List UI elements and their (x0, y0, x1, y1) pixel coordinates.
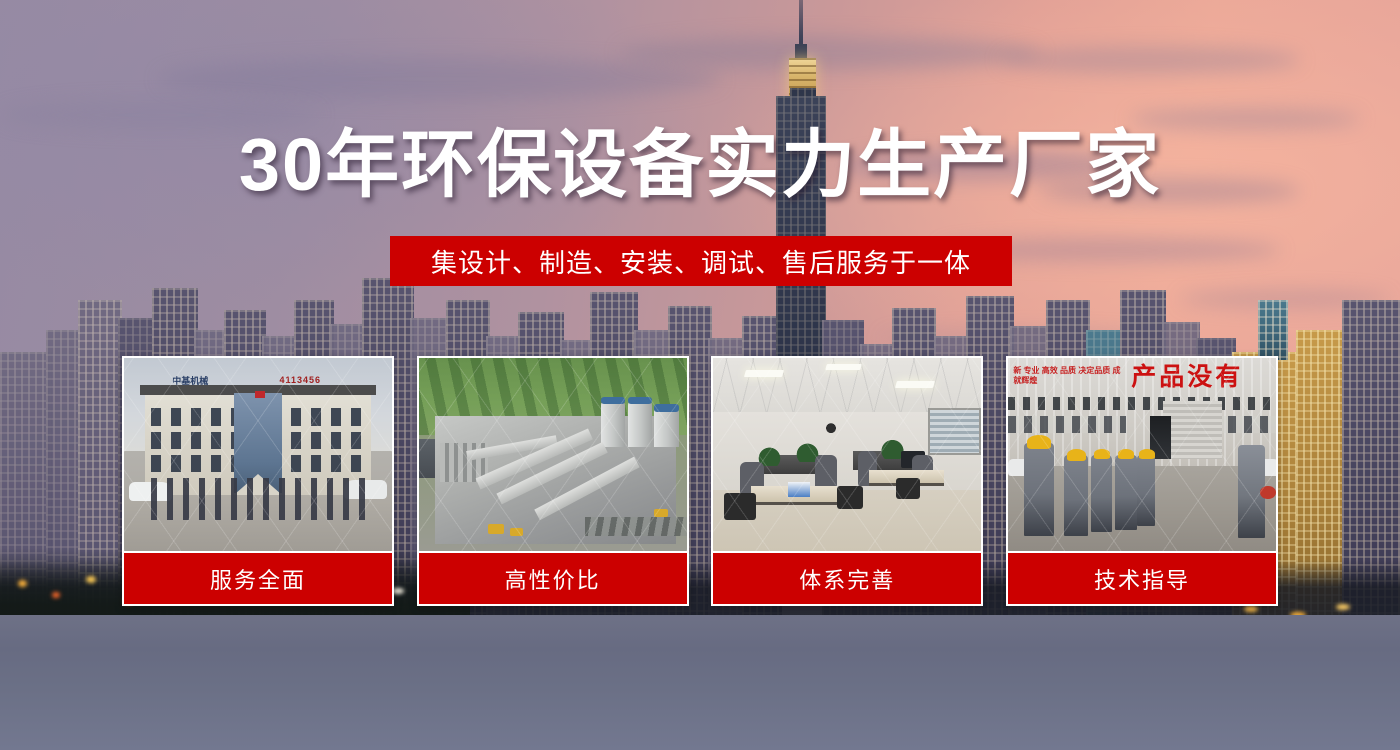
subtitle-text: 集设计、制造、安装、调试、售后服务于一体 (431, 243, 971, 280)
factory-wall-large-text: 产品没有 (1131, 360, 1276, 391)
subtitle-banner: 集设计、制造、安装、调试、售后服务于一体 (390, 236, 1012, 286)
feature-card-value[interactable]: 高性价比 (417, 356, 689, 606)
card-caption: 技术指导 (1008, 553, 1276, 604)
card-photo-workers: 新 专业 高效 品质 决定品质 成就辉煌 产品没有 (1008, 358, 1276, 551)
page-title: 30年环保设备实力生产厂家 (0, 128, 1400, 202)
card-photo-plant (419, 358, 687, 551)
feature-card-guidance[interactable]: 新 专业 高效 品质 决定品质 成就辉煌 产品没有 (1006, 356, 1278, 606)
building-phone-text: 4113456 (279, 373, 375, 387)
card-caption: 体系完善 (713, 553, 981, 604)
feature-card-system[interactable]: 体系完善 (711, 356, 983, 606)
promo-banner: 30年环保设备实力生产厂家 集设计、制造、安装、调试、售后服务于一体 (0, 0, 1400, 750)
feature-card-service[interactable]: 中基机械 4113456 服务全面 (122, 356, 394, 606)
card-caption: 服务全面 (124, 553, 392, 604)
card-photo-headquarters: 中基机械 4113456 (124, 358, 392, 551)
feature-card-list: 中基机械 4113456 服务全面 (122, 356, 1278, 606)
factory-wall-small-text: 新 专业 高效 品质 决定品质 成就辉煌 (1013, 366, 1120, 393)
card-caption: 高性价比 (419, 553, 687, 604)
river-reflection (0, 615, 1400, 750)
building-sign-text: 中基机械 (172, 373, 252, 387)
card-photo-office (713, 358, 981, 551)
